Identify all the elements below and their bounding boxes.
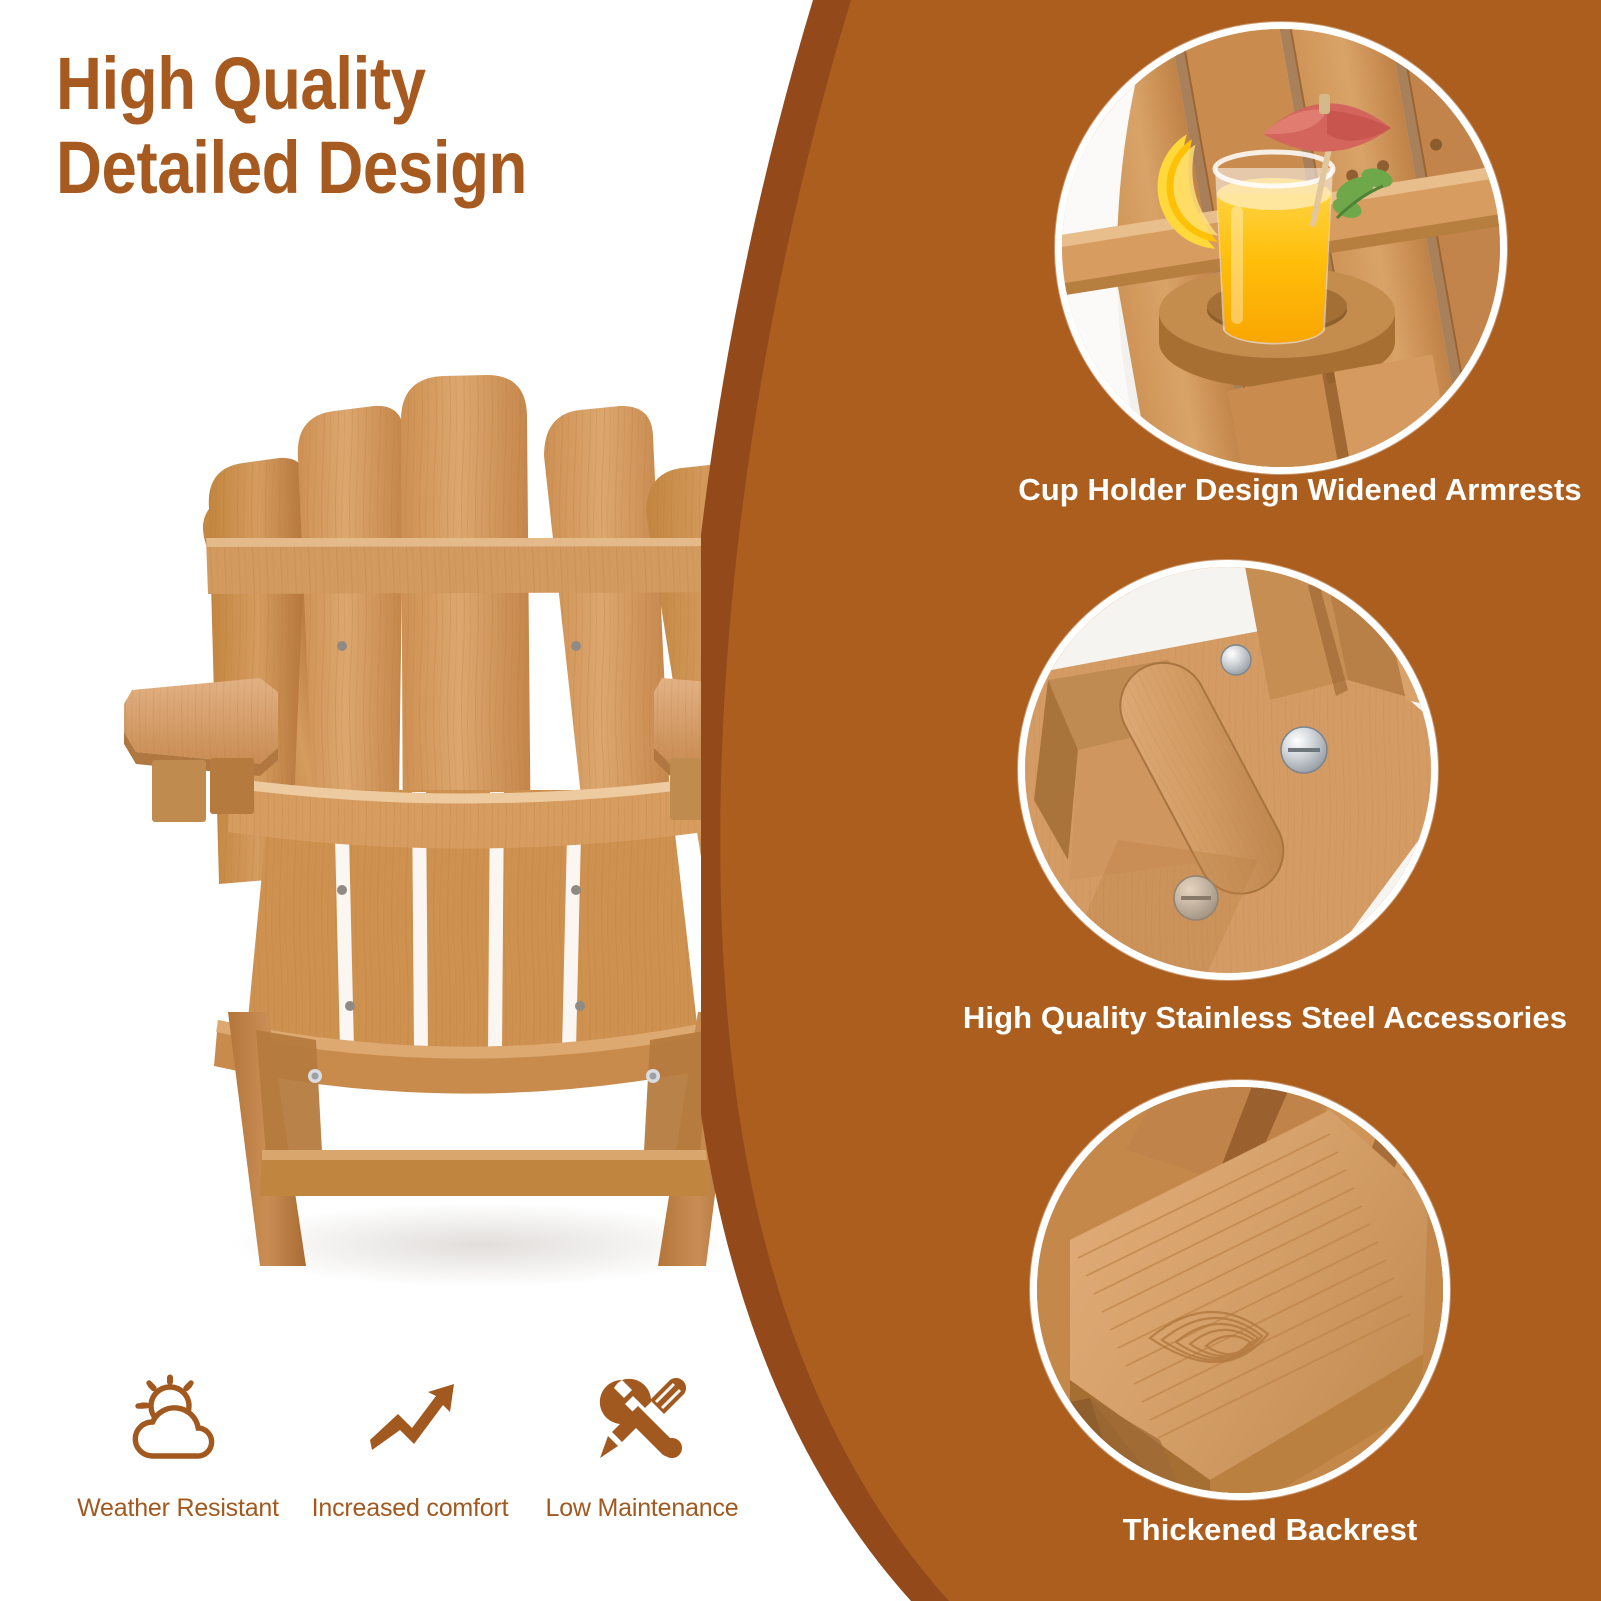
trend-up-arrow-icon	[358, 1368, 462, 1472]
wrench-screwdriver-icon	[590, 1368, 694, 1472]
page-title-line-2: Detailed Design	[56, 126, 658, 210]
feature-list: Weather Resistant Increased comfort	[62, 1368, 762, 1548]
detail-caption-thick-backrest: Thickened Backrest	[980, 1512, 1560, 1548]
detail-caption-stainless-hardware: High Quality Stainless Steel Accessories	[945, 1000, 1585, 1036]
infographic-canvas: High Quality Detailed Design	[0, 0, 1601, 1601]
juice-glass	[1215, 152, 1333, 344]
sun-behind-cloud-icon	[126, 1368, 230, 1472]
feature-label: Weather Resistant	[77, 1494, 279, 1523]
backrest-top-rail	[206, 538, 762, 594]
floor-shadow	[230, 1203, 730, 1287]
detail-inset-thick-backrest	[1030, 1080, 1450, 1500]
feature-item-low-maintenance: Low Maintenance	[526, 1368, 758, 1548]
detail-inset-stainless-hardware	[1018, 560, 1438, 980]
feature-item-weather-resistant: Weather Resistant	[62, 1368, 294, 1548]
feature-label: Increased comfort	[312, 1494, 509, 1523]
detail-caption-cup-holder: Cup Holder Design Widened Armrests	[1005, 472, 1595, 508]
detail-inset-cup-holder	[1055, 22, 1507, 474]
feature-item-increased-comfort: Increased comfort	[294, 1368, 526, 1548]
feature-label: Low Maintenance	[546, 1494, 739, 1523]
page-title: High Quality Detailed Design	[56, 42, 658, 209]
product-hero-image	[110, 360, 830, 1290]
page-title-line-1: High Quality	[56, 42, 426, 125]
cup-holder-ring	[728, 693, 830, 761]
